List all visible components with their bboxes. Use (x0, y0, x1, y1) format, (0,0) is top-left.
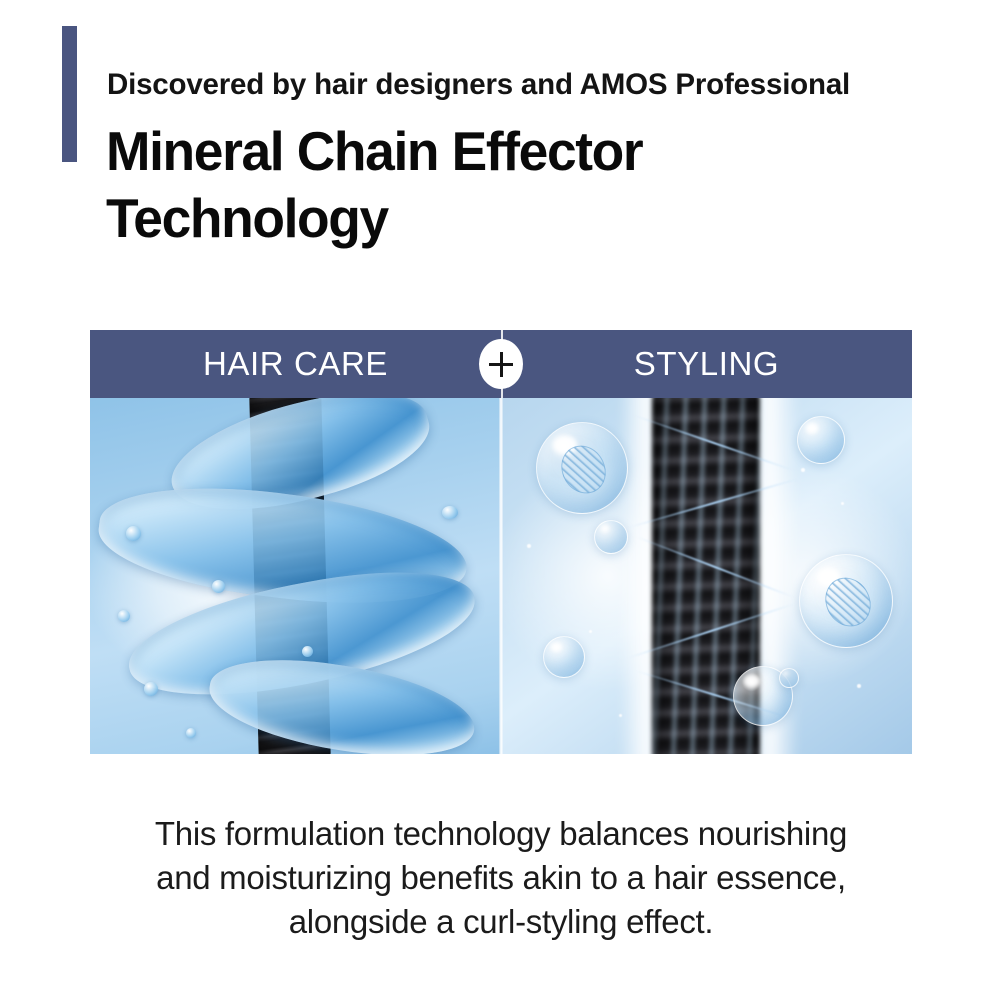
hair-care-image (90, 398, 501, 754)
water-droplet-icon (126, 526, 141, 541)
caption-line-1: This formulation technology balances nou… (90, 812, 912, 856)
water-droplet-icon (442, 506, 458, 519)
accent-bar (62, 26, 77, 162)
bubble-icon (797, 416, 845, 464)
bubble-icon (594, 520, 628, 554)
bubble-icon (543, 636, 585, 678)
panel-image-area (90, 398, 912, 754)
comparison-panel: HAIR CARE STYLING (90, 330, 912, 754)
sparkle-icon (527, 544, 531, 548)
water-droplet-icon (144, 682, 158, 696)
plus-icon-vertical (500, 352, 503, 377)
caption-block: This formulation technology balances nou… (90, 812, 912, 944)
hair-care-label: HAIR CARE (90, 330, 501, 398)
sparkle-icon (857, 684, 861, 688)
caption-line-2: and moisturizing benefits akin to a hair… (90, 856, 912, 900)
plus-icon (479, 339, 523, 389)
header-block: Discovered by hair designers and AMOS Pr… (0, 0, 1001, 300)
styling-image (501, 398, 912, 754)
water-droplet-icon (186, 728, 196, 738)
molecule-bubble-icon (536, 422, 628, 514)
caption-line-3: alongside a curl-styling effect. (90, 900, 912, 944)
molecule-bubble-icon (799, 554, 893, 648)
styling-label: STYLING (501, 330, 912, 398)
sparkle-icon (801, 468, 805, 472)
bubble-icon (779, 668, 799, 688)
page-title-line-2: Technology (106, 185, 940, 252)
sparkle-icon (589, 630, 592, 633)
water-droplet-icon (118, 610, 130, 622)
water-droplet-icon (212, 580, 225, 593)
sparkle-icon (619, 714, 622, 717)
panel-divider (499, 398, 503, 754)
page-title-line-1: Mineral Chain Effector (106, 118, 940, 185)
helix-icon (556, 440, 611, 499)
helix-icon (820, 572, 876, 632)
eyebrow-text: Discovered by hair designers and AMOS Pr… (107, 70, 850, 100)
sparkle-icon (841, 502, 844, 505)
water-droplet-icon (302, 646, 313, 657)
page-title: Mineral Chain Effector Technology (106, 118, 966, 252)
